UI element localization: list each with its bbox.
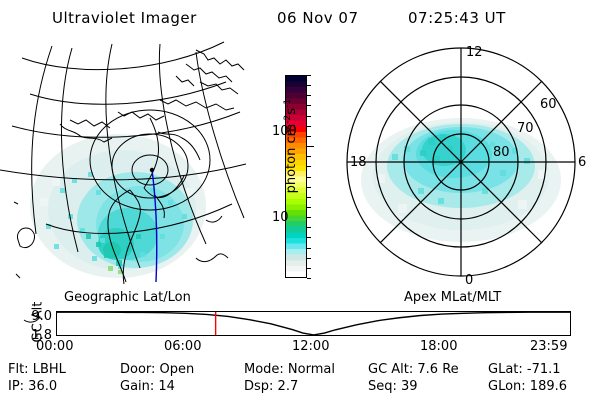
xtick-label-2359: 23:59 <box>530 339 567 354</box>
colorbar-tick <box>307 187 311 188</box>
observation-time: 07:25:43 UT <box>408 9 506 27</box>
apex-mlt-svg[interactable]: 12 6 0 18 60 70 80 <box>332 38 600 290</box>
colorbar-tick <box>307 258 311 259</box>
xtick-label-1800: 18:00 <box>420 339 457 354</box>
colorbar-tick <box>307 116 311 117</box>
status-footer: Flt: LBHL Door: Open Mode: Normal GC Alt… <box>0 362 600 400</box>
colorbar-ticks <box>307 75 331 278</box>
colorbar-tick <box>307 227 311 228</box>
status-door: Door: Open <box>120 362 194 377</box>
xtick-label-1200: 12:00 <box>292 339 329 354</box>
colorbar-tick <box>307 136 311 137</box>
colorbar-tick <box>307 95 311 96</box>
colorbar-tick <box>307 207 311 208</box>
gcalt-ytick-labels: 9.0 1.8 <box>14 311 52 336</box>
status-mode: Mode: Normal <box>244 362 335 377</box>
colorbar-units-mid: s <box>284 108 299 115</box>
mlat-label-60: 60 <box>540 97 557 112</box>
colorbar-tick <box>307 177 311 178</box>
apex-mlt-panel[interactable]: 12 6 0 18 60 70 80 <box>332 38 600 290</box>
colorbar-tick <box>307 156 311 157</box>
colorbar-units-main: photon cm <box>284 124 299 194</box>
colorbar-units-exp2: -1 <box>283 99 293 108</box>
colorbar-units-exp1: -2 <box>283 115 293 124</box>
geographic-panel-caption: Geographic Lat/Lon <box>64 290 191 305</box>
colorbar-tick <box>307 217 311 218</box>
status-glon: GLon: 189.6 <box>488 379 567 394</box>
subsatellite-point <box>150 168 154 172</box>
ytick-label-high: 9.0 <box>31 309 52 324</box>
orbit-altitude-curve-svg <box>57 312 570 335</box>
colorbar-tick <box>307 278 311 279</box>
mlt-label-18: 18 <box>350 155 367 170</box>
timeline-plot-box[interactable] <box>56 311 571 336</box>
colorbar-tick <box>307 237 311 238</box>
colorbar-tick <box>307 85 311 86</box>
mlt-spokes <box>347 48 575 276</box>
colorbar-tick <box>307 268 311 269</box>
orbit-altitude-curve <box>57 312 570 335</box>
observation-date: 06 Nov 07 <box>277 9 359 27</box>
geographic-map-panel[interactable] <box>0 38 262 290</box>
mlt-label-6: 6 <box>578 155 586 170</box>
timeline-xtick-labels: 00:00 06:00 12:00 18:00 23:59 <box>0 339 600 357</box>
header-bar: Ultraviolet Imager 06 Nov 07 07:25:43 UT <box>0 6 600 30</box>
mlat-label-70: 70 <box>517 121 534 136</box>
status-dsp: Dsp: 2.7 <box>244 379 298 394</box>
colorbar-tick <box>307 197 311 198</box>
colorbar-tick <box>307 105 311 106</box>
apex-panel-caption: Apex MLat/MLT <box>404 290 501 305</box>
instrument-title: Ultraviolet Imager <box>52 9 197 27</box>
mlat-label-80: 80 <box>493 145 510 160</box>
status-seq: Seq: 39 <box>368 379 418 394</box>
mlt-label-12: 12 <box>466 45 483 60</box>
status-flight: Flt: LBHL <box>8 362 66 377</box>
status-gain: Gain: 14 <box>120 379 175 394</box>
status-glat: GLat: -71.1 <box>488 362 561 377</box>
xtick-label-0600: 06:00 <box>164 339 201 354</box>
geographic-map-svg[interactable] <box>0 38 262 290</box>
colorbar-tick <box>307 146 314 147</box>
status-ip: IP: 36.0 <box>8 379 57 394</box>
colorbar-axis-title: photon cm-2s-1 <box>283 76 299 216</box>
xtick-label-0000: 00:00 <box>36 339 73 354</box>
colorbar-tick <box>307 166 311 167</box>
colorbar-tick <box>307 126 311 127</box>
colorbar[interactable]: 100 10 photon cm-2s-1 <box>262 60 332 290</box>
mlt-label-0: 0 <box>465 273 473 288</box>
colorbar-tick <box>307 248 311 249</box>
status-gc-alt: GC Alt: 7.6 Re <box>368 362 459 377</box>
colorbar-tick <box>307 75 311 76</box>
gc-altitude-timeline[interactable]: GC Alt 9.0 1.8 00:00 06:00 12:00 18:00 2… <box>0 305 600 357</box>
aurora-emission-geographic <box>30 134 206 278</box>
